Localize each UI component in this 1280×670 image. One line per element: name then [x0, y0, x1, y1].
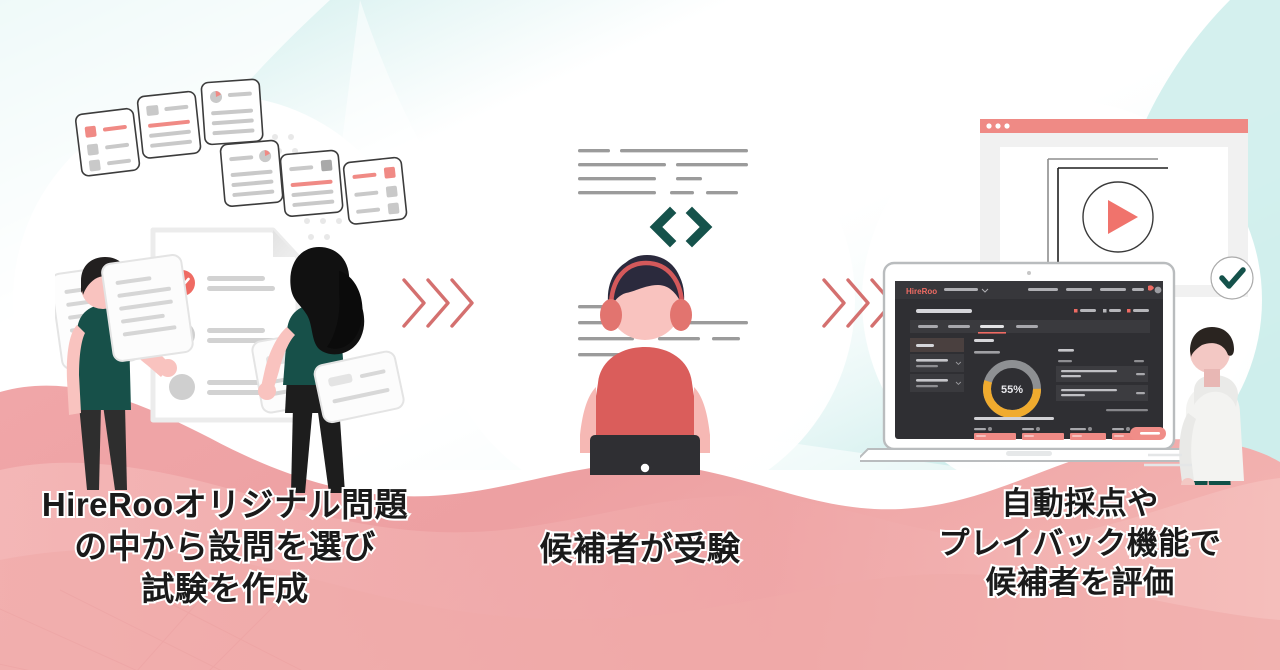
check-badge-icon — [1211, 257, 1253, 299]
step-1-caption: HireRooオリジナル問題 の中から設問を選び 試験を作成 — [0, 484, 450, 611]
question-card — [220, 140, 283, 207]
step-1-illustration — [55, 75, 425, 495]
person-standing-right — [1172, 327, 1244, 485]
step-3-illustration: HireRoo — [860, 105, 1280, 485]
browser-title-bar — [980, 119, 1248, 133]
question-card — [75, 108, 140, 177]
code-text-lines-top — [578, 149, 748, 194]
flow-arrow-1 — [398, 272, 478, 334]
candidate-figure — [558, 255, 738, 475]
step-2-caption: 候補者が受験 — [440, 528, 840, 570]
code-brackets-icon — [656, 213, 706, 241]
score-percent-label: 55% — [1001, 384, 1023, 396]
dashboard-brand: HireRoo — [906, 287, 937, 296]
question-card — [137, 91, 201, 159]
person-holding-card-left — [55, 254, 194, 490]
step-2-illustration — [480, 135, 810, 475]
step-3-caption: 自動採点や プレイバック機能で 候補者を評価 — [880, 484, 1280, 603]
hiring-flow-infographic: HireRoo — [0, 0, 1280, 670]
question-card — [343, 157, 407, 225]
dashboard-laptop: HireRoo — [860, 263, 1202, 461]
question-card — [280, 150, 343, 217]
question-card — [201, 79, 263, 145]
